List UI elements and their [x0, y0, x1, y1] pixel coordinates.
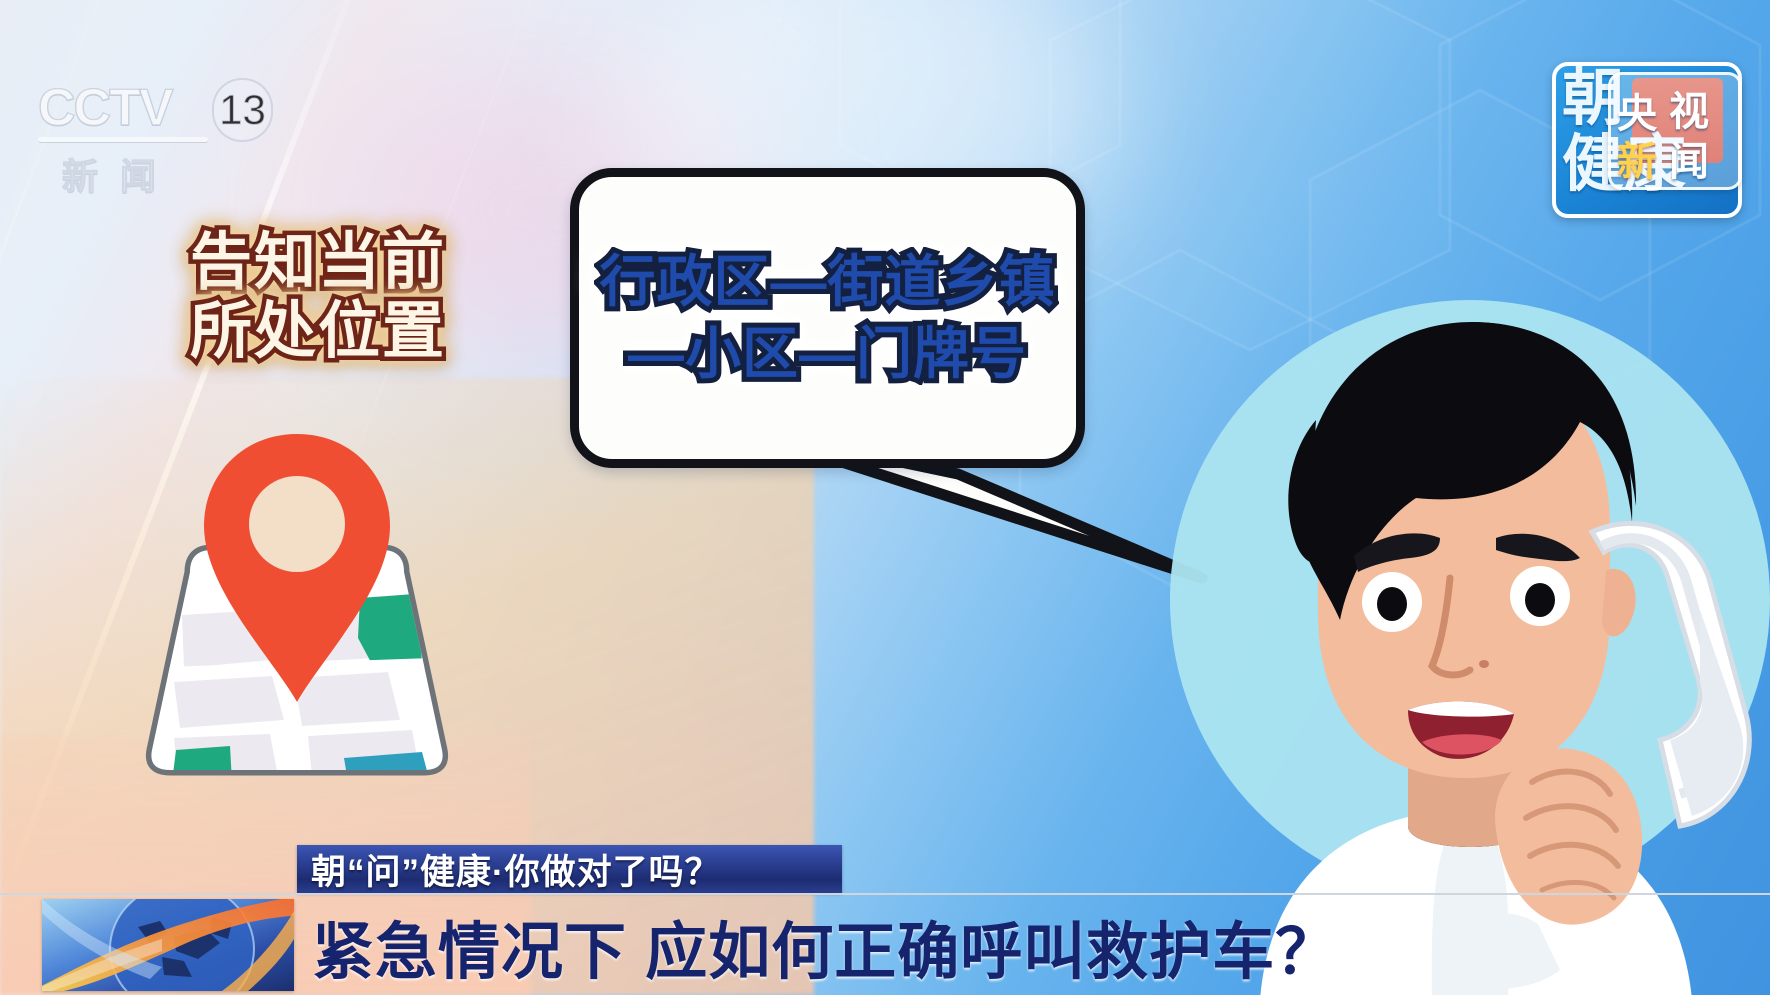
- left-heading-line2: 所处位置: [168, 297, 468, 366]
- cctv13-logo: CCTV 13 新闻: [38, 78, 273, 188]
- left-heading-line1: 告知当前: [168, 228, 468, 297]
- badge-char-wen: 闻: [1669, 129, 1709, 187]
- channel-number: 13: [212, 78, 273, 142]
- cctv-underline: [38, 137, 208, 142]
- left-heading: 告知当前 所处位置: [168, 228, 468, 367]
- program-logo: 朝 健康 央 视 新 闻: [1552, 62, 1742, 218]
- speech-bubble-line2: —小区—门牌号: [628, 320, 1027, 388]
- speech-bubble-line1: 行政区—街道乡镇: [600, 248, 1056, 316]
- globe-icon: [42, 899, 294, 991]
- cctv-wordmark: CCTV: [38, 82, 172, 134]
- speech-bubble-text: 行政区—街道乡镇 —小区—门牌号: [570, 168, 1085, 468]
- channel-name: 新闻: [38, 148, 273, 200]
- headline-text: 紧急情况下 应如何正确呼叫救护车？: [312, 901, 1338, 991]
- caller-illustration: [1140, 270, 1770, 995]
- cctv-news-badge: 央 视 新 闻: [1608, 72, 1742, 190]
- subtitle-banner: 朝“问”健康·你做对了吗？: [297, 845, 842, 893]
- map-illustration: [112, 420, 482, 780]
- speech-bubble: 行政区—街道乡镇 —小区—门牌号: [570, 168, 1085, 468]
- badge-char-xin: 新: [1617, 129, 1657, 187]
- broadcast-screen: CCTV 13 新闻 朝 健康 央 视 新 闻 告知当前 所处位置: [0, 0, 1770, 995]
- subtitle-text: 朝“问”健康·你做对了吗？: [297, 844, 721, 895]
